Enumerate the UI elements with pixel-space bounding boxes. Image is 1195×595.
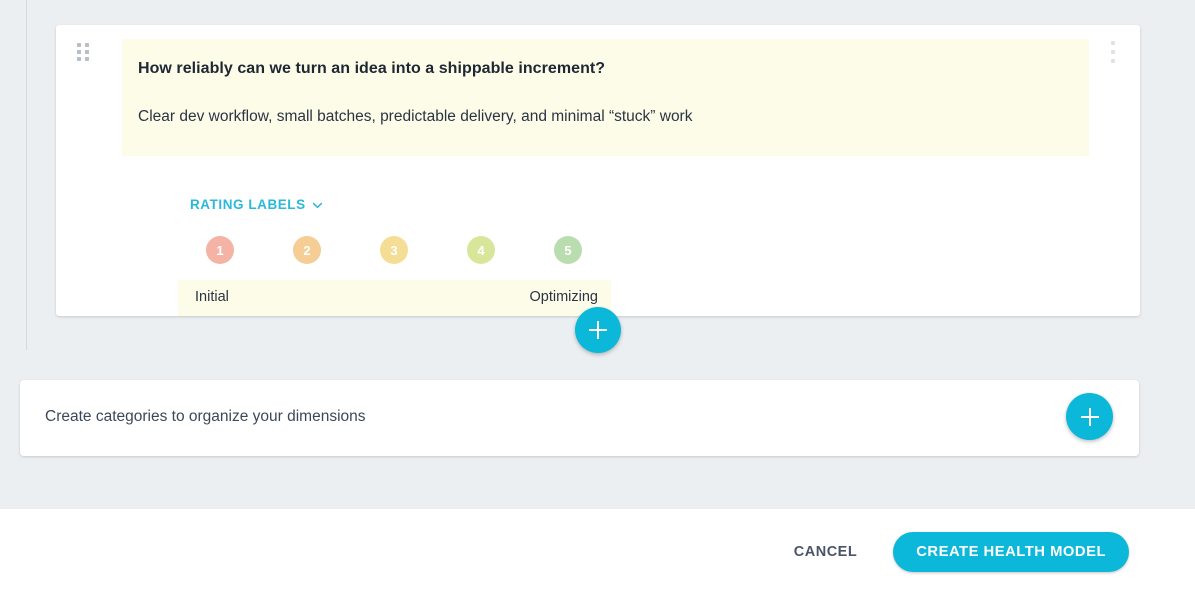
rating-dot-4-value: 4: [477, 243, 484, 258]
dimension-card: How reliably can we turn an idea into a …: [56, 25, 1140, 316]
rating-dot-3-value: 3: [390, 243, 397, 258]
kebab-menu-icon[interactable]: [1105, 39, 1121, 65]
footer-actions: CANCEL CREATE HEALTH MODEL: [774, 509, 1129, 595]
kebab-dot: [1111, 41, 1115, 45]
dimension-group-rail: [26, 0, 27, 350]
dimension-question-banner[interactable]: How reliably can we turn an idea into a …: [122, 39, 1089, 156]
drag-dots-icon[interactable]: [77, 43, 91, 62]
rating-dot-1-value: 1: [216, 243, 223, 258]
rating-endpoint-high-label: Optimizing: [530, 289, 599, 305]
chevron-down-icon: [312, 200, 323, 211]
rating-dot-2[interactable]: 2: [293, 236, 321, 264]
category-placeholder-text: Create categories to organize your dimen…: [45, 408, 366, 426]
drag-dot: [85, 50, 89, 54]
rating-endpoint-low-label: Initial: [195, 289, 229, 305]
rating-labels-toggle[interactable]: RATING LABELS: [190, 197, 323, 212]
rating-dot-1[interactable]: 1: [206, 236, 234, 264]
rating-dot-5[interactable]: 5: [554, 236, 582, 264]
kebab-dot: [1111, 50, 1115, 54]
plus-icon: [589, 321, 607, 339]
rating-dot-4[interactable]: 4: [467, 236, 495, 264]
rating-scale-row: 1 2 3 4 5: [190, 236, 610, 264]
health-model-builder-page: How reliably can we turn an idea into a …: [0, 0, 1195, 595]
dimension-question-title: How reliably can we turn an idea into a …: [138, 60, 605, 78]
add-category-button[interactable]: [1066, 393, 1113, 440]
rating-dot-3[interactable]: 3: [380, 236, 408, 264]
drag-dot: [77, 57, 81, 61]
plus-icon: [1081, 408, 1099, 426]
footer-bar: CANCEL CREATE HEALTH MODEL: [0, 509, 1195, 595]
kebab-dot: [1111, 59, 1115, 63]
create-health-model-button[interactable]: CREATE HEALTH MODEL: [893, 532, 1129, 572]
rating-endpoint-band[interactable]: Initial Optimizing: [178, 280, 611, 316]
cancel-button[interactable]: CANCEL: [774, 534, 877, 570]
rating-dot-2-value: 2: [303, 243, 310, 258]
rating-labels-toggle-label: RATING LABELS: [190, 197, 306, 212]
drag-dot: [77, 43, 81, 47]
content-scroll-area: How reliably can we turn an idea into a …: [0, 0, 1195, 509]
rating-dot-5-value: 5: [564, 243, 571, 258]
add-dimension-button[interactable]: [575, 307, 621, 353]
drag-dot: [77, 50, 81, 54]
dimension-question-description: Clear dev workflow, small batches, predi…: [138, 108, 692, 126]
drag-dot: [85, 43, 89, 47]
category-card: Create categories to organize your dimen…: [20, 380, 1139, 456]
drag-dot: [85, 57, 89, 61]
